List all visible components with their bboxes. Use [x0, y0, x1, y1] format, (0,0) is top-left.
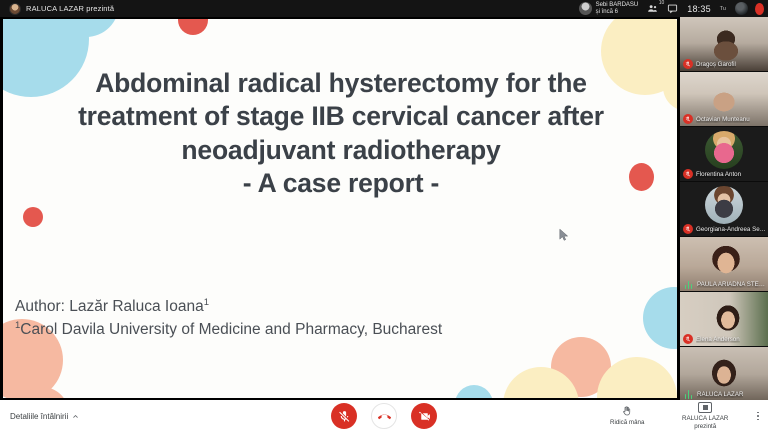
presenter-label: RALUCA LAZAR prezintă: [26, 4, 114, 13]
slide-author-line: Author: Lazăr Raluca Ioana1: [15, 296, 535, 319]
participant-label: RALUCA LAZAR: [683, 390, 766, 399]
slide-author-superscript: 1: [204, 297, 209, 308]
presentation-stage[interactable]: Abdominal radical hysterectomy for the t…: [0, 17, 680, 400]
speaking-indicator-icon: [683, 280, 694, 289]
presenting-indicator: RALUCA LAZAR prezintă: [0, 3, 114, 15]
participant-name: Dragoș Garofil: [696, 61, 736, 68]
slide: Abdominal radical hysterectomy for the t…: [3, 19, 677, 398]
speaking-indicator-icon: [683, 390, 694, 399]
bottom-bar-right: Ridică mâna RALUCA LAZAR prezintă: [598, 401, 762, 432]
active-speaker-chip: Sebi BARDASU și încă 6: [579, 2, 639, 15]
chat-icon[interactable]: [667, 3, 678, 14]
clock: 18:35: [687, 4, 711, 14]
decor-circle-blue-bottom: [455, 385, 493, 398]
meet-window: RALUCA LAZAR prezintă Sebi BARDASU și în…: [0, 0, 768, 432]
participant-name: Florentina Anton: [696, 171, 741, 178]
present-now-button[interactable]: RALUCA LAZAR prezintă: [676, 401, 734, 432]
end-call-button[interactable]: [371, 403, 397, 429]
avatar: [705, 186, 743, 224]
slide-author-name: Author: Lazăr Raluca Ioana: [15, 298, 204, 315]
avatar: [705, 131, 743, 169]
call-controls: [331, 403, 437, 429]
raise-hand-icon: [621, 405, 633, 418]
top-bar: RALUCA LAZAR prezintă Sebi BARDASU și în…: [0, 0, 768, 17]
mic-off-icon: [338, 410, 351, 423]
slide-affiliation: Carol Davila University of Medicine and …: [20, 321, 442, 338]
self-label: Tu: [720, 6, 726, 12]
participant-name: RALUCA LAZAR: [697, 391, 743, 398]
participant-label: Dragoș Garofil: [683, 59, 766, 69]
participant-tile[interactable]: Dragoș Garofil: [680, 17, 768, 72]
more-options-icon[interactable]: [754, 412, 762, 421]
present-screen-icon: [698, 401, 712, 414]
participant-name: Elena Anderson: [696, 336, 740, 343]
participant-tile[interactable]: RALUCA LAZAR: [680, 347, 768, 402]
mic-off-button[interactable]: [331, 403, 357, 429]
participant-label: PAULA ARIADNA STEFA...: [683, 280, 766, 289]
mic-off-icon: [683, 114, 693, 124]
participant-label: Georgiana-Andreea Serb...: [683, 224, 766, 234]
participants-count: 10: [659, 0, 665, 6]
self-avatar[interactable]: [735, 2, 748, 15]
participant-tile[interactable]: PAULA ARIADNA STEFA...: [680, 237, 768, 292]
participant-name: Octavian Munteanu: [696, 116, 750, 123]
decor-circle-red-top: [178, 19, 208, 35]
recording-indicator: [755, 3, 764, 15]
mouse-cursor-icon: [559, 228, 569, 242]
bottom-bar: Detaliile întâlnirii: [0, 400, 768, 432]
present-status-label: RALUCA LAZAR prezintă: [682, 415, 728, 432]
participant-tile[interactable]: Florentina Anton: [680, 127, 768, 182]
raise-hand-label: Ridică mâna: [610, 419, 644, 427]
camera-off-button[interactable]: [411, 403, 437, 429]
chevron-up-icon: [72, 413, 79, 420]
mic-off-icon: [683, 59, 693, 69]
presenter-avatar: [9, 3, 21, 15]
present-presenter-name: RALUCA LAZAR: [682, 415, 728, 422]
participant-tile[interactable]: Elena Anderson: [680, 292, 768, 347]
meeting-details-label: Detaliile întâlnirii: [10, 412, 68, 421]
decor-circle-blue-bottomright: [643, 287, 677, 349]
participant-label: Elena Anderson: [683, 334, 766, 344]
active-speaker-avatar: [579, 2, 592, 15]
participant-label: Octavian Munteanu: [683, 114, 766, 124]
mic-off-icon: [683, 334, 693, 344]
slide-title-line3: neoadjuvant radiotherapy: [49, 134, 633, 167]
mic-off-icon: [683, 224, 693, 234]
participant-tile[interactable]: Octavian Munteanu: [680, 72, 768, 127]
slide-title-line1: Abdominal radical hysterectomy for the: [49, 67, 633, 100]
participant-tile[interactable]: Georgiana-Andreea Serb...: [680, 182, 768, 237]
present-presenter-status: prezintă: [694, 423, 716, 430]
slide-title: Abdominal radical hysterectomy for the t…: [49, 67, 633, 201]
end-call-icon: [378, 410, 391, 423]
camera-off-icon: [418, 410, 431, 423]
active-speaker-sub: și încă 6: [596, 9, 639, 15]
people-icon[interactable]: 10: [647, 3, 658, 14]
meeting-details-button[interactable]: Detaliile întâlnirii: [10, 412, 79, 421]
slide-title-line2: treatment of stage IIB cervical cancer a…: [49, 100, 633, 133]
participants-rail: Dragoș Garofil Octavian Munteanu Florent…: [680, 17, 768, 400]
slide-title-line4: - A case report -: [49, 167, 633, 200]
slide-affiliation-line: 1Carol Davila University of Medicine and…: [15, 319, 535, 342]
top-bar-right: Sebi BARDASU și încă 6 10 18:35 Tu: [579, 0, 768, 17]
participant-name: PAULA ARIADNA STEFA...: [697, 281, 766, 288]
decor-circle-red-left: [23, 207, 43, 227]
raise-hand-button[interactable]: Ridică mâna: [598, 405, 656, 427]
slide-author-block: Author: Lazăr Raluca Ioana1 1Carol Davil…: [15, 296, 535, 341]
mic-off-icon: [683, 169, 693, 179]
participant-label: Florentina Anton: [683, 169, 766, 179]
participant-name: Georgiana-Andreea Serb...: [696, 226, 766, 233]
